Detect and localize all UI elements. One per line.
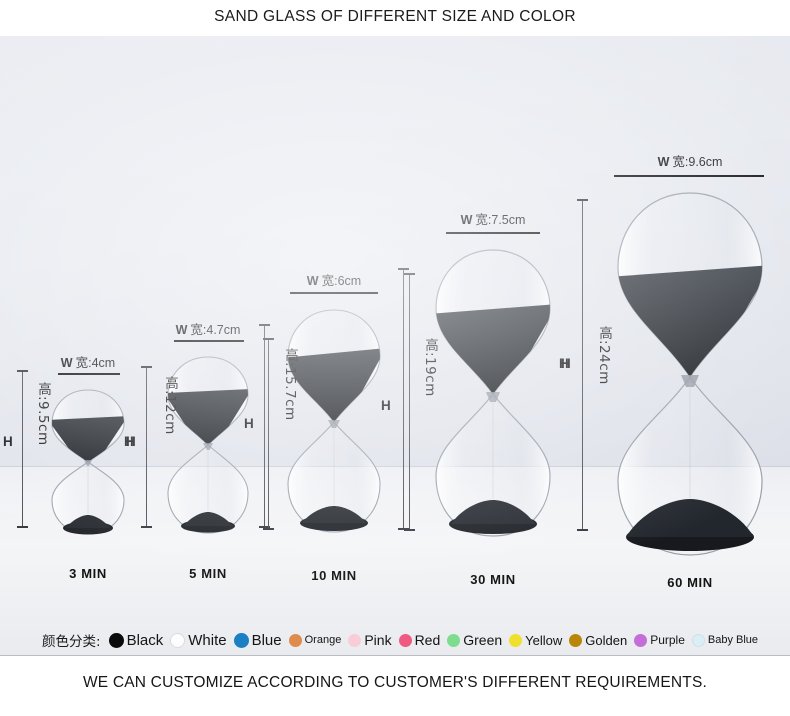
- width-value-10min: 宽:6cm: [322, 274, 362, 288]
- color-swatch-label: Green: [463, 632, 502, 648]
- color-swatch-label: Purple: [650, 633, 685, 647]
- color-swatch-purple[interactable]: Purple: [634, 633, 685, 647]
- height-label-3min: 高:9.5cm: [33, 382, 53, 446]
- color-legend-items: BlackWhiteBlueOrangePinkRedGreenYellowGo…: [107, 632, 758, 649]
- width-label-3min: W宽:4cm: [36, 352, 140, 371]
- title-band: SAND GLASS OF DIFFERENT SIZE AND COLOR: [0, 0, 790, 36]
- color-dot-icon: [569, 634, 582, 647]
- color-swatch-label: Baby Blue: [708, 634, 758, 646]
- h-marker-right-5min: H: [244, 416, 254, 431]
- height-measure-line-10min: [268, 338, 269, 530]
- color-swatch-label: Red: [415, 632, 441, 648]
- width-bar-60min: [614, 175, 764, 177]
- width-prefix-60min: W: [658, 155, 670, 169]
- color-dot-icon: [170, 633, 185, 648]
- color-swatch-green[interactable]: Green: [447, 632, 502, 648]
- color-swatch-white[interactable]: White: [170, 632, 226, 649]
- color-swatch-pink[interactable]: Pink: [348, 632, 391, 648]
- width-label-60min: W宽:9.6cm: [600, 151, 780, 170]
- color-swatch-label: Black: [127, 632, 164, 649]
- width-value-60min: 宽:9.6cm: [672, 155, 722, 169]
- width-prefix-3min: W: [61, 356, 73, 370]
- width-prefix-10min: W: [307, 274, 319, 288]
- width-value-30min: 宽:7.5cm: [475, 213, 525, 227]
- width-bar-10min: [290, 292, 378, 294]
- color-swatch-red[interactable]: Red: [399, 632, 441, 648]
- color-swatch-label: Golden: [585, 633, 627, 648]
- color-swatch-label: Blue: [252, 632, 282, 649]
- height-measure-line-3min: [22, 370, 23, 528]
- color-dot-icon: [289, 634, 302, 647]
- width-value-5min: 宽:4.7cm: [190, 323, 240, 337]
- width-prefix-5min: W: [176, 323, 188, 337]
- duration-label-5min: 5 MIN: [138, 566, 278, 581]
- color-swatch-label: Orange: [305, 634, 342, 646]
- sandglass-glass-10min: [272, 302, 396, 542]
- duration-label-30min: 30 MIN: [423, 572, 563, 587]
- height-measure-line-10min-right: [403, 268, 404, 530]
- color-legend-title: 颜色分类:: [42, 630, 101, 650]
- height-measure-line-30min: [409, 273, 410, 531]
- duration-label-3min: 3 MIN: [18, 566, 158, 581]
- h-marker-left-5min: H: [124, 434, 134, 449]
- color-dot-icon: [509, 634, 522, 647]
- color-dot-icon: [692, 634, 705, 647]
- caption-band: WE CAN CUSTOMIZE ACCORDING TO CUSTOMER'S…: [0, 656, 790, 716]
- color-dot-icon: [634, 634, 647, 647]
- width-bar-30min: [446, 232, 540, 234]
- height-label-10min: 高:15.7cm: [280, 348, 300, 421]
- width-label-10min: W宽:6cm: [272, 270, 396, 289]
- width-bar-5min: [174, 340, 244, 342]
- color-legend: 颜色分类: BlackWhiteBlueOrangePinkRedGreenYe…: [0, 624, 790, 655]
- h-marker-right-10min: H: [381, 398, 391, 413]
- duration-label-60min: 60 MIN: [620, 575, 760, 590]
- height-label-60min: 高:24cm: [594, 326, 614, 385]
- width-prefix-30min: W: [461, 213, 473, 227]
- color-dot-icon: [348, 634, 361, 647]
- color-swatch-orange[interactable]: Orange: [289, 634, 342, 647]
- page-title: SAND GLASS OF DIFFERENT SIZE AND COLOR: [0, 8, 790, 26]
- height-label-5min: 高:12cm: [160, 376, 180, 435]
- color-dot-icon: [234, 633, 249, 648]
- h-marker-left-60min: H: [561, 356, 571, 371]
- height-label-30min: 高:19cm: [420, 338, 440, 397]
- footer-caption: WE CAN CUSTOMIZE ACCORDING TO CUSTOMER'S…: [0, 674, 790, 692]
- width-label-30min: W宽:7.5cm: [418, 209, 568, 228]
- color-swatch-golden[interactable]: Golden: [569, 633, 627, 648]
- height-measure-line-5min-right: [264, 324, 265, 528]
- color-dot-icon: [109, 633, 124, 648]
- color-swatch-label: White: [188, 632, 226, 649]
- color-swatch-baby-blue[interactable]: Baby Blue: [692, 634, 758, 647]
- color-dot-icon: [399, 634, 412, 647]
- width-label-5min: W宽:4.7cm: [152, 319, 264, 338]
- width-value-3min: 宽:4cm: [76, 356, 116, 370]
- color-swatch-yellow[interactable]: Yellow: [509, 633, 562, 648]
- product-photo-stage: W宽:4cm: [0, 36, 790, 655]
- width-bar-3min: [58, 373, 120, 375]
- color-dot-icon: [447, 634, 460, 647]
- color-swatch-black[interactable]: Black: [109, 632, 164, 649]
- color-swatch-blue[interactable]: Blue: [234, 632, 282, 649]
- color-swatch-label: Pink: [364, 632, 391, 648]
- product-infographic: SAND GLASS OF DIFFERENT SIZE AND COLOR W…: [0, 0, 790, 716]
- color-swatch-label: Yellow: [525, 633, 562, 648]
- height-measure-line-5min: [146, 366, 147, 528]
- sandglass-glass-60min: [600, 185, 780, 567]
- duration-label-10min: 10 MIN: [264, 568, 404, 583]
- sandglass-glass-30min: [418, 242, 568, 547]
- h-marker-left-3min: H: [3, 434, 13, 449]
- height-measure-line-30min-right: [582, 199, 583, 531]
